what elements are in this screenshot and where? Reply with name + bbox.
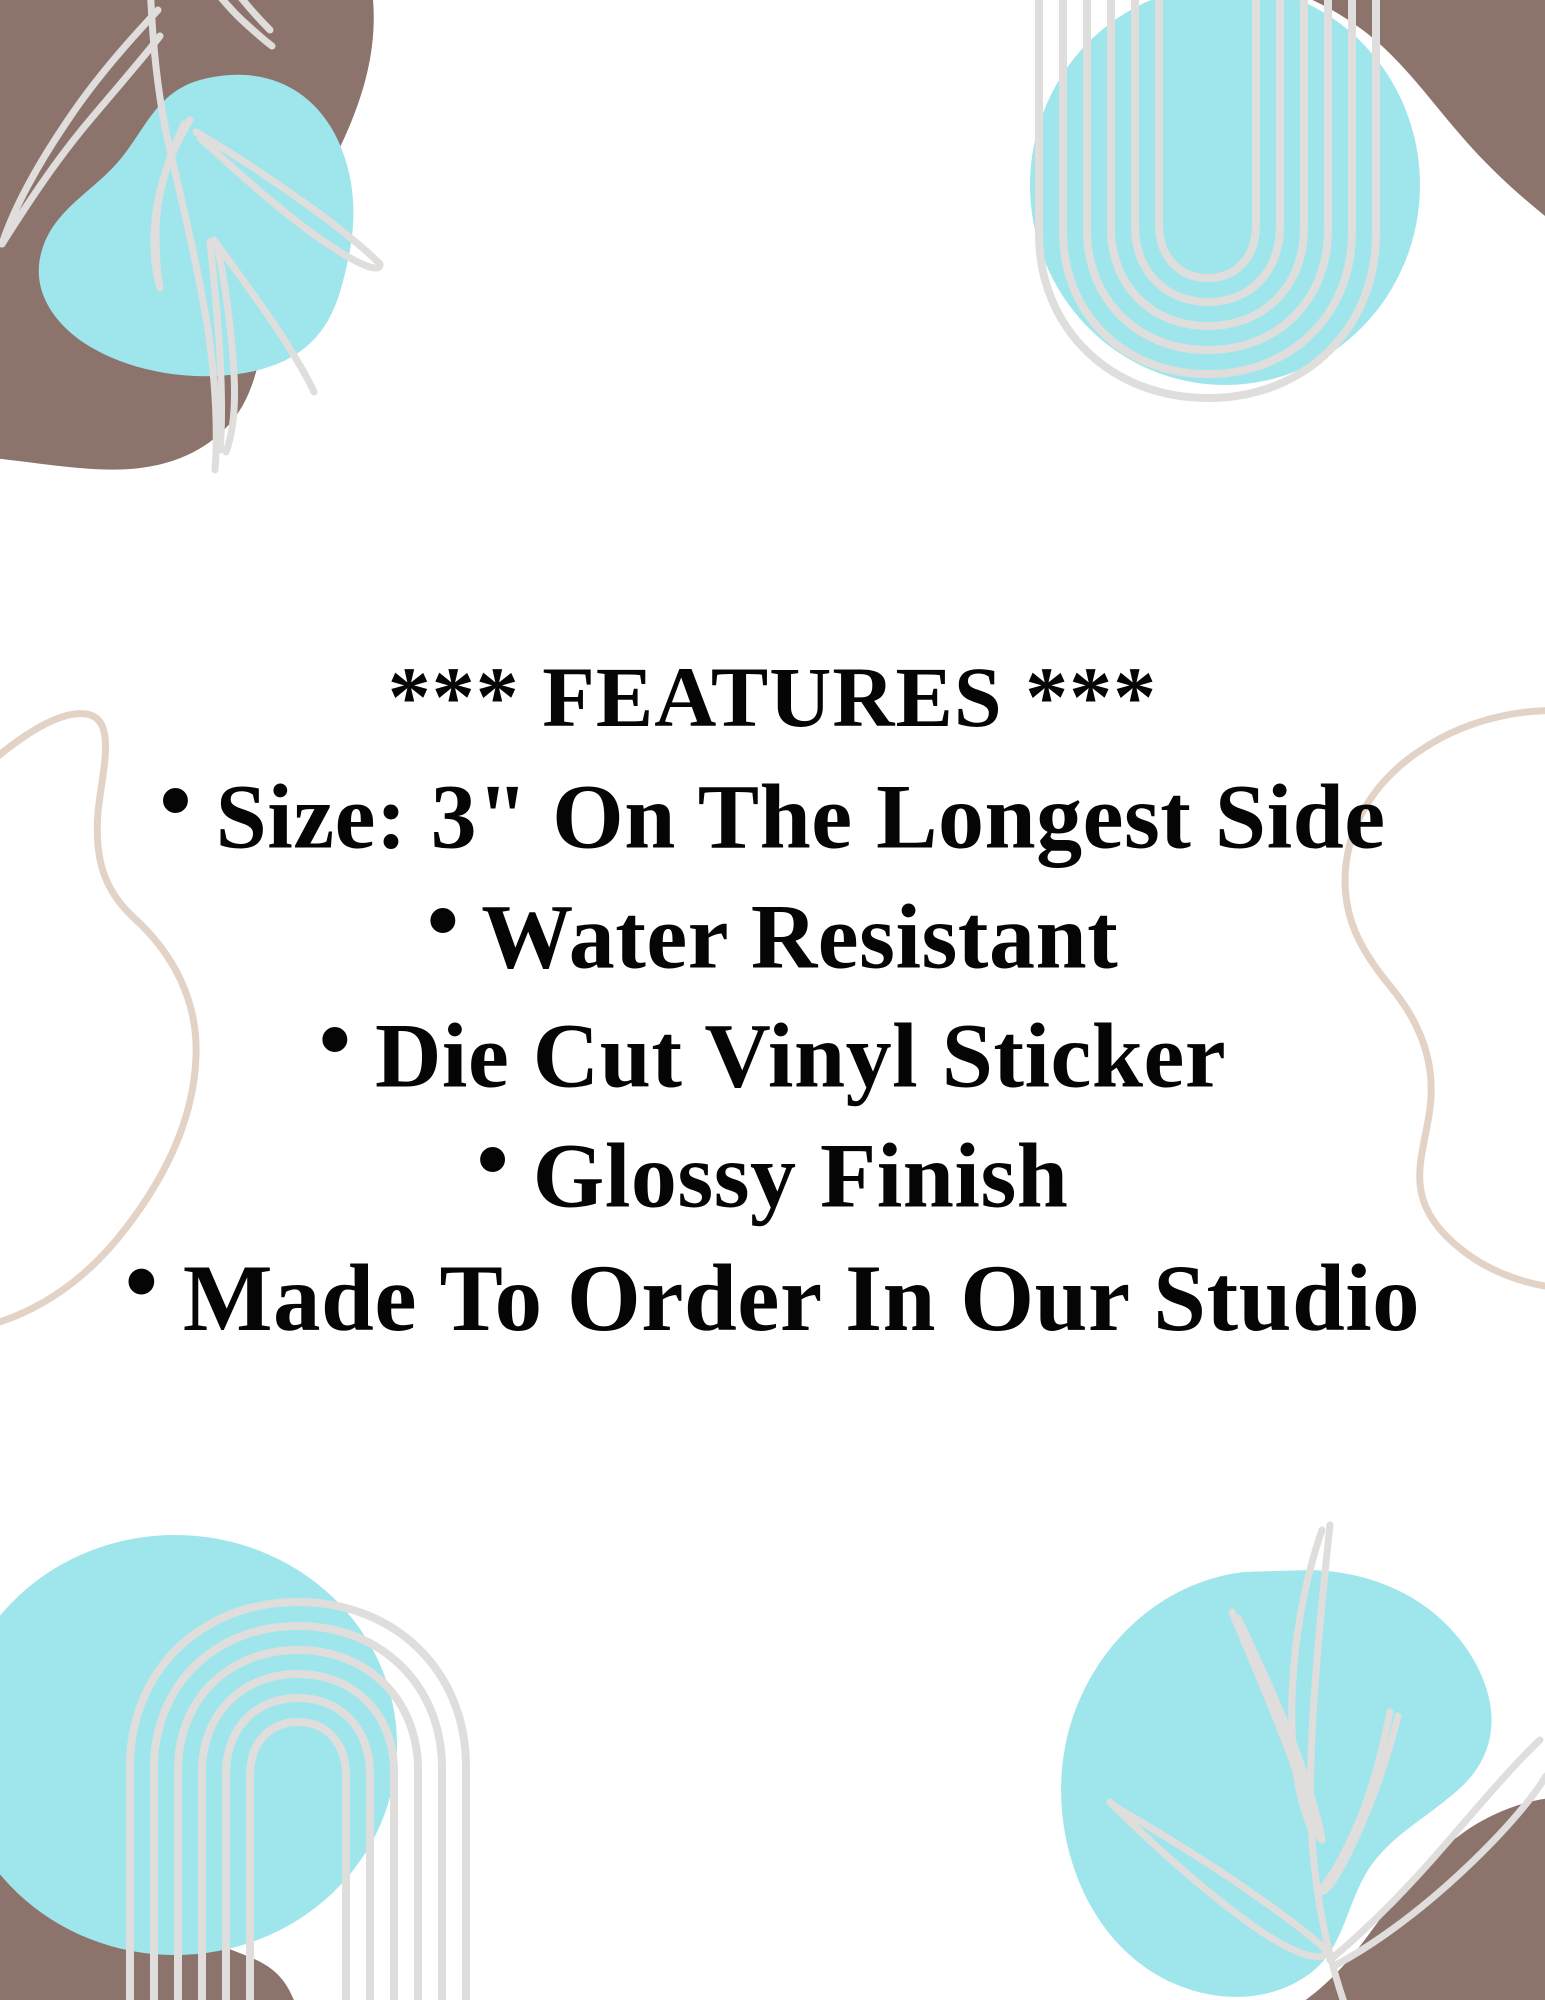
bullet-icon: • bbox=[477, 1108, 510, 1211]
features-poster: *** FEATURES *** • Size: 3" On The Longe… bbox=[0, 0, 1545, 2000]
feature-item-label: Die Cut Vinyl Sticker bbox=[375, 1005, 1226, 1107]
feature-item-made-to-order: • Made To Order In Our Studio bbox=[0, 1228, 1545, 1351]
bullet-icon: • bbox=[319, 988, 352, 1091]
features-block: *** FEATURES *** • Size: 3" On The Longe… bbox=[0, 649, 1545, 1351]
feature-item-label: Glossy Finish bbox=[533, 1125, 1069, 1227]
feature-item-glossy-finish: • Glossy Finish bbox=[0, 1108, 1545, 1228]
feature-item-label: Made To Order In Our Studio bbox=[183, 1245, 1420, 1351]
bullet-icon: • bbox=[125, 1228, 159, 1334]
bullet-icon: • bbox=[159, 749, 192, 852]
feature-item-die-cut-vinyl: • Die Cut Vinyl Sticker bbox=[0, 988, 1545, 1108]
feature-item-label: Water Resistant bbox=[481, 885, 1118, 987]
bullet-icon: • bbox=[427, 869, 460, 972]
feature-item-label: Size: 3" On The Longest Side bbox=[216, 766, 1386, 868]
feature-item-size: • Size: 3" On The Longest Side bbox=[0, 749, 1545, 869]
features-content: *** FEATURES *** • Size: 3" On The Longe… bbox=[0, 0, 1545, 2000]
feature-item-water-resistant: • Water Resistant bbox=[0, 869, 1545, 989]
page-title: *** FEATURES *** bbox=[0, 649, 1545, 745]
